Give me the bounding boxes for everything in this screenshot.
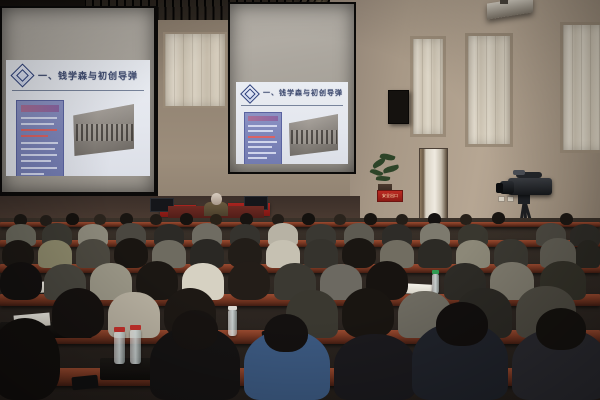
audience-person — [418, 239, 452, 268]
slide-divider — [241, 105, 343, 106]
camera-viewfinder — [513, 170, 525, 175]
secondary-slide: 一、钱学森与初创导弹 — [236, 82, 348, 164]
institute-emblem-icon — [10, 63, 34, 87]
projector-mount — [500, 0, 508, 4]
smartphone — [71, 375, 98, 391]
audience-person — [342, 238, 376, 268]
audience-area — [0, 218, 600, 400]
slide-building-photo — [288, 114, 338, 156]
bottle-cap — [114, 327, 125, 332]
presenter-head — [211, 193, 222, 205]
bottle-cap — [228, 306, 237, 310]
video-camera — [508, 178, 552, 195]
audience-person-foreground — [334, 334, 416, 400]
slide-divider — [12, 90, 144, 91]
institute-emblem-icon — [240, 84, 260, 104]
audience-head — [492, 212, 505, 224]
acoustic-panel — [560, 22, 600, 153]
water-bottle — [130, 330, 141, 364]
lecture-hall-photo: 一、钱学森与初创导弹 一、钱学森与初创导弹 — [0, 0, 600, 400]
audience-head — [150, 214, 162, 225]
audience-head-foreground — [264, 314, 308, 352]
slide-textbox — [16, 100, 64, 176]
tripod-head — [518, 194, 530, 204]
main-slide: 一、钱学森与初创导弹 — [6, 60, 150, 176]
bottle-cap — [432, 270, 439, 274]
audience-person — [342, 288, 394, 338]
main-projection-screen: 一、钱学森与初创导弹 — [2, 8, 154, 192]
water-bottle — [114, 332, 125, 364]
wall-outlet — [507, 196, 514, 202]
audience-head — [334, 214, 346, 225]
acoustic-panel — [410, 36, 446, 137]
audience-head-foreground — [536, 308, 586, 350]
audience-head — [66, 213, 79, 225]
audience-head — [180, 213, 193, 225]
audience-person — [52, 288, 104, 338]
slide-title: 一、钱学森与初创导弹 — [38, 69, 138, 82]
slide-building-photo — [72, 104, 134, 156]
wall-loudspeaker — [388, 90, 409, 124]
camera-lens-hood — [496, 183, 503, 193]
textbox-heading — [248, 116, 278, 121]
audience-head-foreground — [172, 310, 218, 350]
water-bottle — [228, 310, 237, 336]
secondary-projection-screen: 一、钱学森与初创导弹 — [230, 4, 354, 172]
audience-person — [228, 261, 270, 300]
exit-sign-text: 安全出口 — [378, 191, 402, 201]
slide-title: 一、钱学森与初创导弹 — [263, 88, 343, 98]
acoustic-panel — [465, 33, 513, 147]
slide-textbox — [244, 112, 282, 164]
potted-plant — [370, 152, 400, 186]
wall-outlet — [498, 196, 505, 202]
audience-person — [576, 240, 600, 268]
audience-person — [0, 262, 42, 300]
audience-head — [302, 213, 315, 225]
audience-head-foreground — [436, 302, 488, 346]
acoustic-panel — [163, 32, 227, 108]
bottle-cap — [130, 325, 141, 330]
textbox-heading — [21, 105, 60, 112]
exit-notice-sign: 安全出口 — [377, 190, 403, 202]
audience-person — [304, 239, 338, 268]
audience-head — [560, 213, 573, 225]
